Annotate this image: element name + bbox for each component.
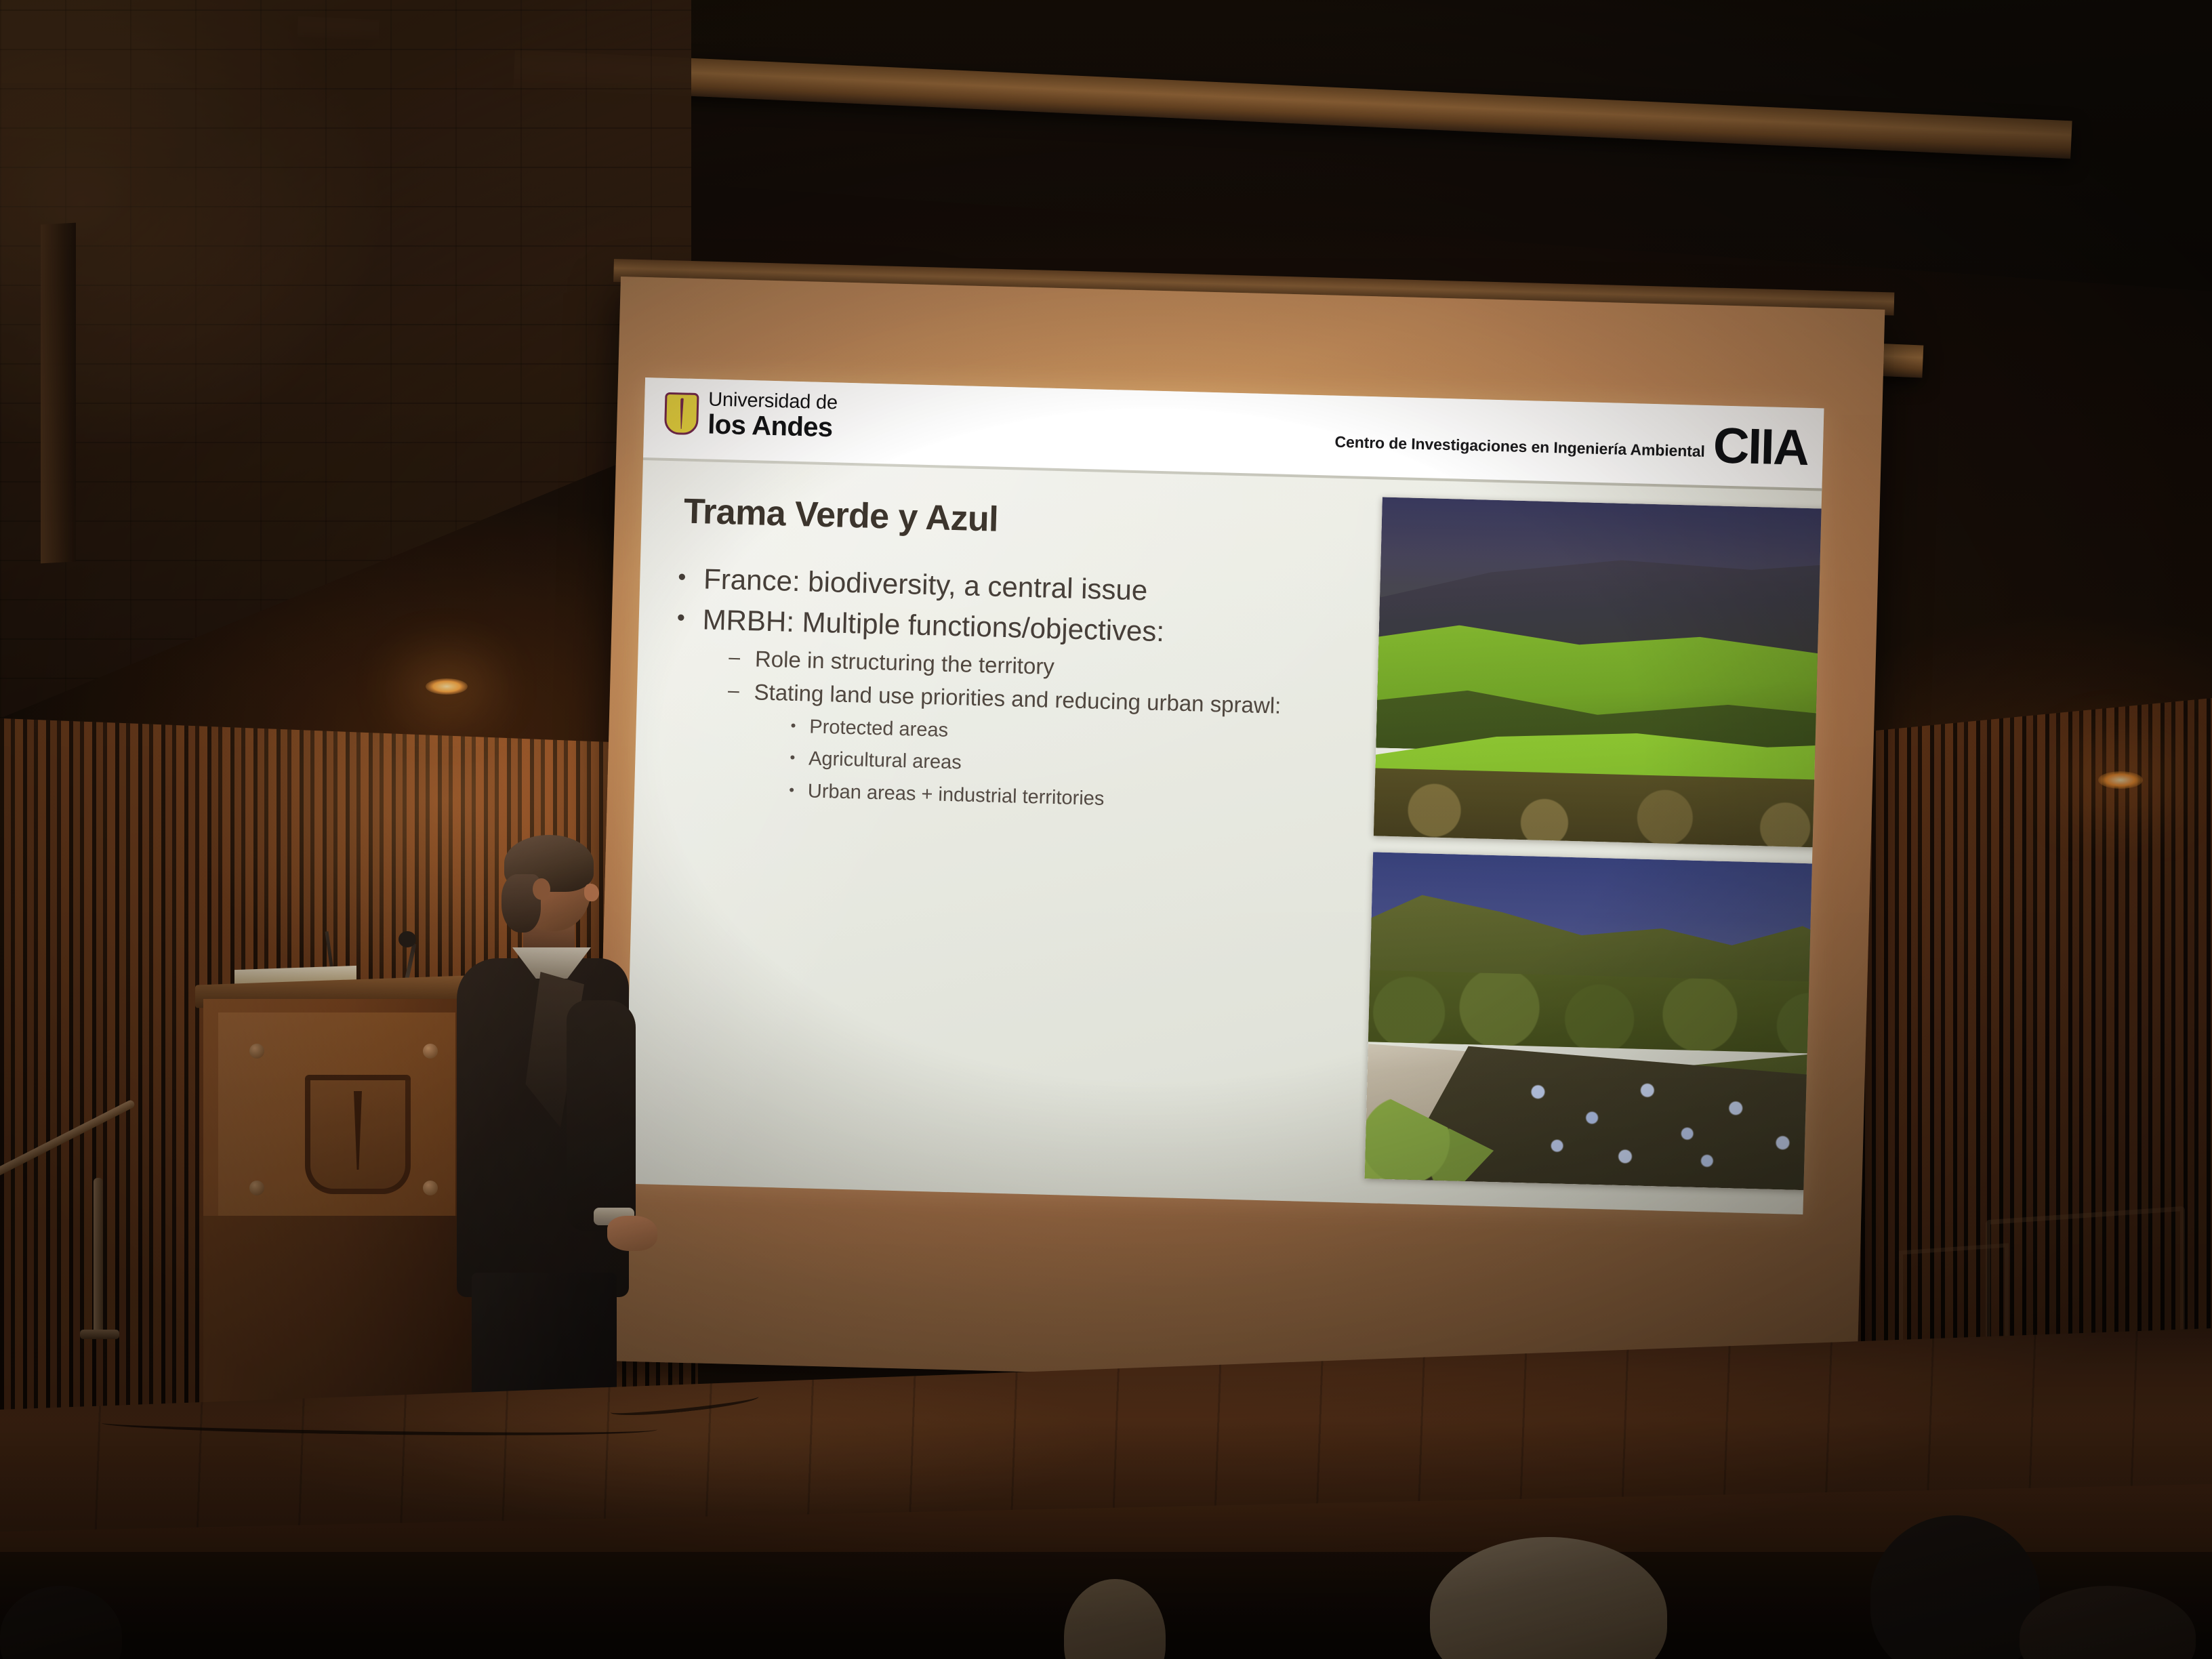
presenter bbox=[434, 839, 664, 1462]
bullet-marker: • bbox=[790, 746, 796, 772]
bullet-text: Agricultural areas bbox=[808, 747, 962, 777]
bullet-text: Role in structuring the territory bbox=[754, 644, 1054, 680]
podium-bolt bbox=[249, 1181, 264, 1195]
bullet-marker: • bbox=[676, 600, 685, 637]
ceiling-downlight-left bbox=[426, 678, 468, 695]
research-center-acronym: CIIA bbox=[1713, 424, 1809, 469]
photo-green-landscape bbox=[1374, 497, 1824, 849]
podium-bolt bbox=[249, 1044, 264, 1059]
uniandes-shield-icon bbox=[664, 392, 699, 434]
university-line-2: los Andes bbox=[708, 411, 838, 441]
bullet-marker: • bbox=[790, 714, 796, 739]
bullet-marker: • bbox=[678, 560, 687, 596]
presenter-ear bbox=[533, 878, 550, 900]
university-logo: Universidad de los Andes bbox=[664, 389, 838, 442]
photo-road-greenway bbox=[1365, 852, 1824, 1191]
bullet-marker: – bbox=[729, 644, 741, 672]
auditorium-scene: Universidad de los Andes Centro de Inves… bbox=[0, 0, 2212, 1659]
projection-screen: Universidad de los Andes Centro de Inves… bbox=[592, 276, 1885, 1393]
slide-bullet-list: • France: biodiversity, a central issue … bbox=[672, 560, 1356, 821]
stage-handrail bbox=[0, 1152, 149, 1355]
slide-title: Trama Verde y Azul bbox=[683, 491, 999, 540]
bullet-text: France: biodiversity, a central issue bbox=[703, 560, 1148, 609]
bullet-marker: • bbox=[789, 779, 795, 804]
bullet-text: Urban areas + industrial territories bbox=[807, 779, 1104, 813]
research-center-name: Centro de Investigaciones en Ingeniería … bbox=[1334, 433, 1705, 466]
bullet-item-subsub: • Urban areas + industrial territories bbox=[789, 779, 1351, 819]
bullet-marker: – bbox=[727, 677, 739, 705]
uniandes-shield-icon bbox=[305, 1075, 411, 1194]
wall-post bbox=[41, 223, 76, 564]
presentation-slide: Universidad de los Andes Centro de Inves… bbox=[624, 377, 1824, 1214]
bullet-text: MRBH: Multiple functions/objectives: bbox=[702, 601, 1165, 650]
bullet-text: Protected areas bbox=[809, 714, 949, 743]
presenter-hand bbox=[607, 1216, 657, 1251]
podium-front-panel bbox=[218, 1012, 455, 1216]
microphone-head-icon bbox=[398, 931, 416, 947]
wall-light-right bbox=[2098, 771, 2143, 789]
presenter-nose bbox=[584, 884, 599, 901]
presenter-arm bbox=[567, 1000, 636, 1231]
research-center-branding: Centro de Investigaciones en Ingeniería … bbox=[1334, 415, 1809, 469]
